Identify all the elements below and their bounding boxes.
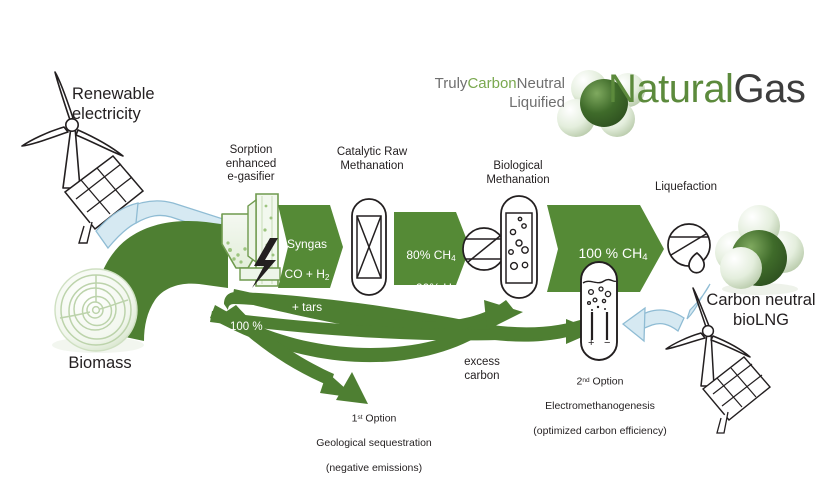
electricity-flow-left bbox=[96, 201, 223, 248]
electrode-cathode-label: − bbox=[604, 337, 610, 349]
brand-logo: TrulyCarbonNeutral Liquified NaturalGas bbox=[412, 68, 827, 130]
gasifier-icon bbox=[222, 194, 280, 288]
solar-panel-icon-right bbox=[703, 357, 770, 433]
flow-label-mix-l2sub: 2 bbox=[452, 287, 457, 296]
flow-label-pure-l1sub: 4 bbox=[642, 252, 647, 263]
logo-word-carbon: Carbon bbox=[467, 75, 516, 92]
label-biological-methanation: Biological Methanation bbox=[462, 160, 574, 187]
label-option2-line3: (optimized carbon efficiency) bbox=[509, 425, 691, 438]
flow-label-co2-l2a: CO bbox=[242, 350, 271, 371]
logo-word-truly: Truly bbox=[435, 75, 468, 92]
logo-word-gas: Gas bbox=[733, 67, 805, 111]
flow-label-pure-l1a: 100 % CH bbox=[578, 245, 642, 261]
flow-label-syngas-l1: Syngas bbox=[278, 237, 336, 252]
label-option1-line2: Geological sequestration bbox=[284, 437, 464, 450]
option2-word: Option bbox=[590, 375, 624, 387]
option1-word: Option bbox=[363, 412, 397, 424]
label-option1-line1: 1st Option bbox=[284, 412, 464, 425]
methane-molecule-icon-right bbox=[715, 205, 804, 295]
label-excess-carbon: excess carbon bbox=[448, 356, 516, 383]
biomass-log-icon bbox=[52, 269, 144, 353]
flow-label-syngas-l2: CO + H2 bbox=[278, 267, 336, 285]
label-carbon-neutral-biolng: Carbon neutral bioLNG bbox=[694, 290, 828, 330]
label-option2: 2nd Option Electromethanogenesis (optimi… bbox=[509, 362, 691, 450]
option2-suffix: nd bbox=[582, 377, 589, 384]
logo-tagline-line1: TrulyCarbonNeutral bbox=[435, 74, 565, 93]
logo-word-neutral: Neutral bbox=[517, 75, 565, 92]
flow-label-co2-l1: 100 % bbox=[230, 320, 302, 335]
flow-label-mix-l1sub: 4 bbox=[451, 254, 456, 263]
flow-label-mix-l2a: + 20% H bbox=[406, 281, 452, 295]
label-liquefaction: Liquefaction bbox=[636, 181, 736, 195]
flow-label-syngas-l2sub: 2 bbox=[325, 273, 330, 282]
lightning-bolt-icon bbox=[252, 238, 278, 288]
label-option1-line3: (negative emissions) bbox=[284, 462, 464, 475]
logo-wordmark: NaturalGas bbox=[608, 66, 805, 112]
flow-label-methane-mix: 80% CH4 + 20% H2 bbox=[398, 233, 464, 314]
logo-tagline: TrulyCarbonNeutral Liquified bbox=[435, 74, 565, 112]
biological-reactor-icon bbox=[501, 196, 537, 298]
flow-label-mix-l2: + 20% H2 bbox=[398, 281, 464, 299]
label-biomass: Biomass bbox=[40, 353, 160, 373]
catalytic-reactor-icon bbox=[352, 199, 386, 295]
label-option1: 1st Option Geological sequestration (neg… bbox=[284, 399, 464, 487]
flow-label-co2: 100 % CO2 bbox=[230, 305, 302, 390]
flow-label-syngas-l2a: CO + H bbox=[285, 267, 325, 281]
label-renewable-electricity: Renewable electricity bbox=[72, 84, 202, 124]
logo-word-natural: Natural bbox=[608, 67, 733, 111]
electrode-anode-label: + bbox=[588, 337, 594, 349]
flow-label-co2-l2sub: 2 bbox=[271, 357, 278, 372]
liquefaction-icon bbox=[668, 224, 710, 273]
flow-label-co2-l2: CO2 bbox=[230, 350, 302, 375]
flow-label-pure-l1: 100 % CH4 bbox=[566, 245, 660, 266]
logo-tagline-line2: Liquified bbox=[435, 93, 565, 112]
label-option2-line1: 2nd Option bbox=[509, 375, 691, 388]
diagram-canvas: TrulyCarbonNeutral Liquified NaturalGas … bbox=[0, 0, 829, 470]
biomass-flow-arrow bbox=[92, 221, 228, 341]
label-catalytic-methanation: Catalytic Raw Methanation bbox=[316, 146, 428, 173]
solar-panel-icon-left bbox=[65, 156, 143, 243]
flow-label-mix-l1a: 80% CH bbox=[406, 248, 451, 262]
separator-icon bbox=[463, 228, 505, 270]
flow-label-pure-methane: 100 % CH4 bbox=[566, 228, 660, 283]
flow-label-mix-l1: 80% CH4 bbox=[398, 248, 464, 266]
label-option2-line2: Electromethanogenesis bbox=[509, 400, 691, 413]
label-gasifier: Sorption enhanced e-gasifier bbox=[196, 144, 306, 185]
